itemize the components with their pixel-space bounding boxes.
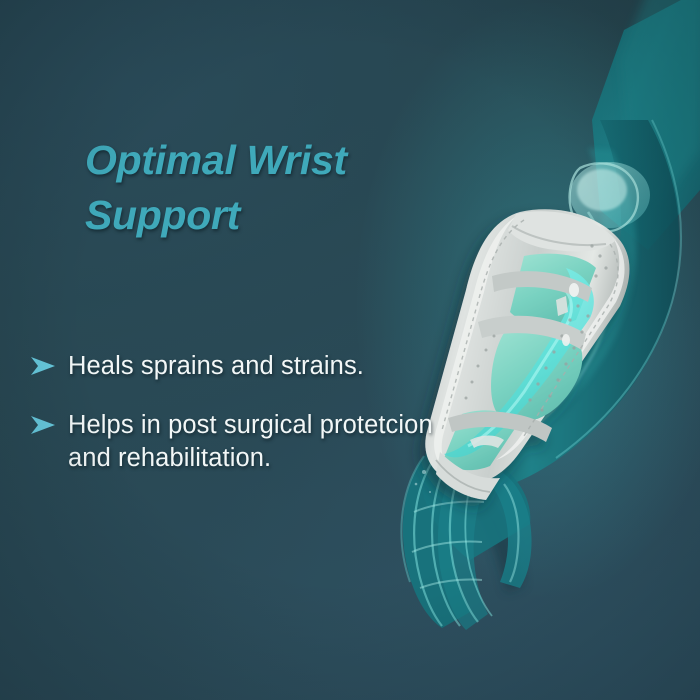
product-poster: Optimal Wrist Support Heals sprains and … <box>0 0 700 700</box>
list-item: Heals sprains and strains. <box>30 350 450 383</box>
page-title: Optimal Wrist Support <box>85 133 425 242</box>
arrowhead-bullet-icon <box>30 409 68 435</box>
copy-block: Optimal Wrist Support Heals sprains and … <box>0 0 470 700</box>
list-item-label: Heals sprains and strains. <box>68 350 450 383</box>
list-item-label: Helps in post surgical protetcion and re… <box>68 409 450 475</box>
list-item: Helps in post surgical protetcion and re… <box>30 409 450 475</box>
arrowhead-bullet-icon <box>30 350 68 376</box>
benefits-list: Heals sprains and strains. Helps in post… <box>30 350 450 501</box>
